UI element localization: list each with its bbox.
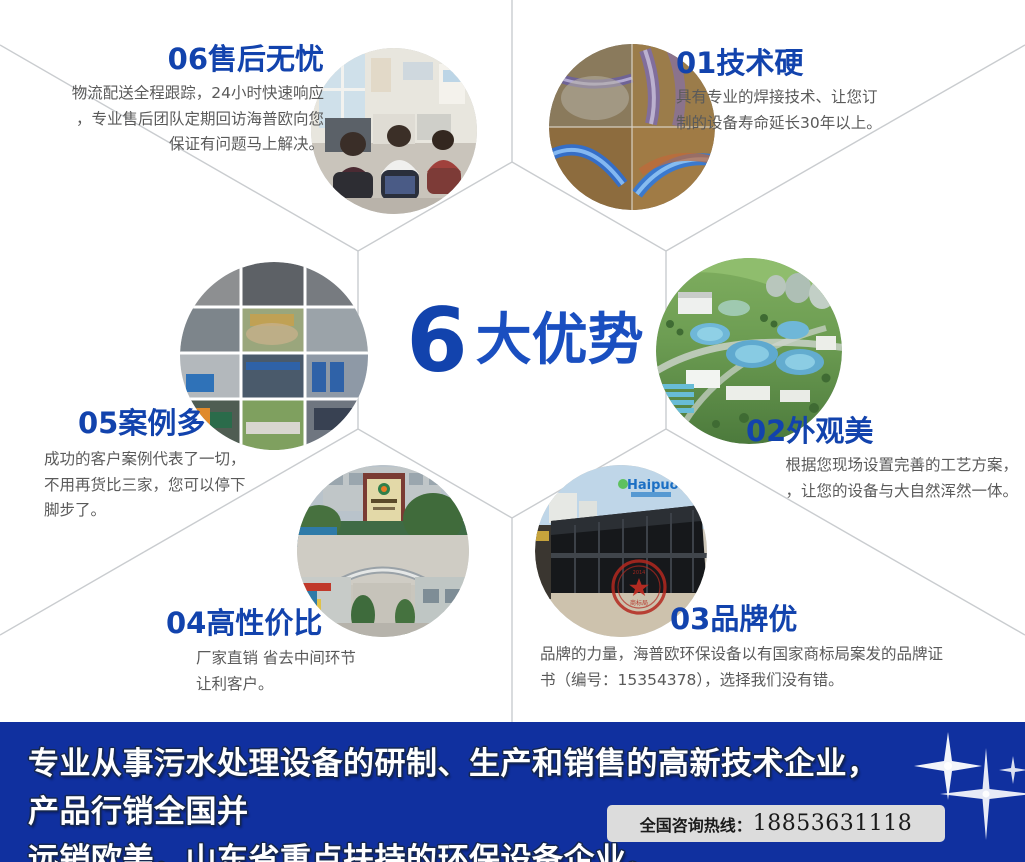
feature-01-heading: 01技术硬: [676, 48, 1012, 78]
feature-05-heading: 05案例多: [78, 408, 324, 438]
feature-04-body-line-2: 让利客户。: [196, 672, 430, 697]
feature-04: 04高性价比 厂家直销 省去中间环节 让利客户。: [130, 608, 430, 697]
feature-03-body: 品牌的力量，海普欧环保设备以有国家商标局案发的品牌证 书（编号：15354378…: [540, 642, 1020, 692]
banner-text: 专业从事污水处理设备的研制、生产和销售的高新技术企业，产品行销全国并 远销欧美，…: [28, 740, 908, 862]
center-title-number: 6: [406, 297, 465, 385]
feature-04-body-line-1: 厂家直销 省去中间环节: [196, 646, 430, 671]
feature-03: 03品牌优 品牌的力量，海普欧环保设备以有国家商标局案发的品牌证 书（编号：15…: [540, 604, 1020, 693]
feature-02-body: 根据您现场设置完善的工艺方案， ，让您的设备与大自然浑然一体。: [700, 453, 1018, 503]
center-title: 6 大优势: [390, 286, 660, 396]
svg-text:2014: 2014: [633, 570, 646, 576]
feature-05-body: 成功的客户案例代表了一切， 不用再货比三家，您可以停下 脚步了。: [44, 447, 324, 522]
feature-04-heading: 04高性价比: [166, 608, 430, 638]
feature-06: 06售后无忧 物流配送全程跟踪，24小时快速响应 ，专业售后团队定期回访海普欧向…: [8, 44, 324, 157]
feature-03-body-line-1: 品牌的力量，海普欧环保设备以有国家商标局案发的品牌证: [540, 642, 1020, 667]
svg-text:Haipuou: Haipuou: [627, 478, 688, 493]
infographic-root: 6 大优势: [0, 0, 1025, 862]
feature-01-body-line-1: 具有专业的焊接技术、让您订: [676, 85, 1012, 110]
center-title-word: 大优势: [476, 313, 644, 369]
hotline-number: 18853631118: [753, 811, 912, 836]
feature-02-body-line-2: ，让您的设备与大自然浑然一体。: [700, 479, 1018, 504]
hotline-label: 全国咨询热线：: [640, 812, 752, 836]
feature-06-body-line-3: 保证有问题马上解决。: [8, 132, 324, 157]
feature-05-body-line-3: 脚步了。: [44, 498, 324, 523]
feature-06-heading: 06售后无忧: [8, 44, 324, 74]
feature-05: 05案例多 成功的客户案例代表了一切， 不用再货比三家，您可以停下 脚步了。: [44, 408, 324, 523]
hotline-box[interactable]: 全国咨询热线： 18853631118: [607, 805, 945, 842]
feature-05-body-line-2: 不用再货比三家，您可以停下: [44, 473, 324, 498]
feature-06-body: 物流配送全程跟踪，24小时快速响应 ，专业售后团队定期回访海普欧向您 保证有问题…: [8, 81, 324, 156]
feature-03-body-line-2: 书（编号：15354378），选择我们没有错。: [540, 668, 1020, 693]
feature-06-body-line-1: 物流配送全程跟踪，24小时快速响应: [8, 81, 324, 106]
feature-01: 01技术硬 具有专业的焊接技术、让您订 制的设备寿命延长30年以上。: [676, 48, 1012, 136]
office-staff-photo: [311, 48, 477, 214]
feature-01-body: 具有专业的焊接技术、让您订 制的设备寿命延长30年以上。: [676, 85, 1012, 135]
feature-03-heading: 03品牌优: [670, 604, 1020, 634]
feature-02: 02外观美 根据您现场设置完善的工艺方案， ，让您的设备与大自然浑然一体。: [700, 416, 1018, 504]
feature-02-body-line-1: 根据您现场设置完善的工艺方案，: [700, 453, 1018, 478]
feature-06-body-line-2: ，专业售后团队定期回访海普欧向您: [8, 107, 324, 132]
feature-05-body-line-1: 成功的客户案例代表了一切，: [44, 447, 324, 472]
feature-02-heading: 02外观美: [746, 416, 1018, 446]
feature-01-body-line-2: 制的设备寿命延长30年以上。: [676, 111, 1012, 136]
feature-04-body: 厂家直销 省去中间环节 让利客户。: [196, 646, 430, 696]
